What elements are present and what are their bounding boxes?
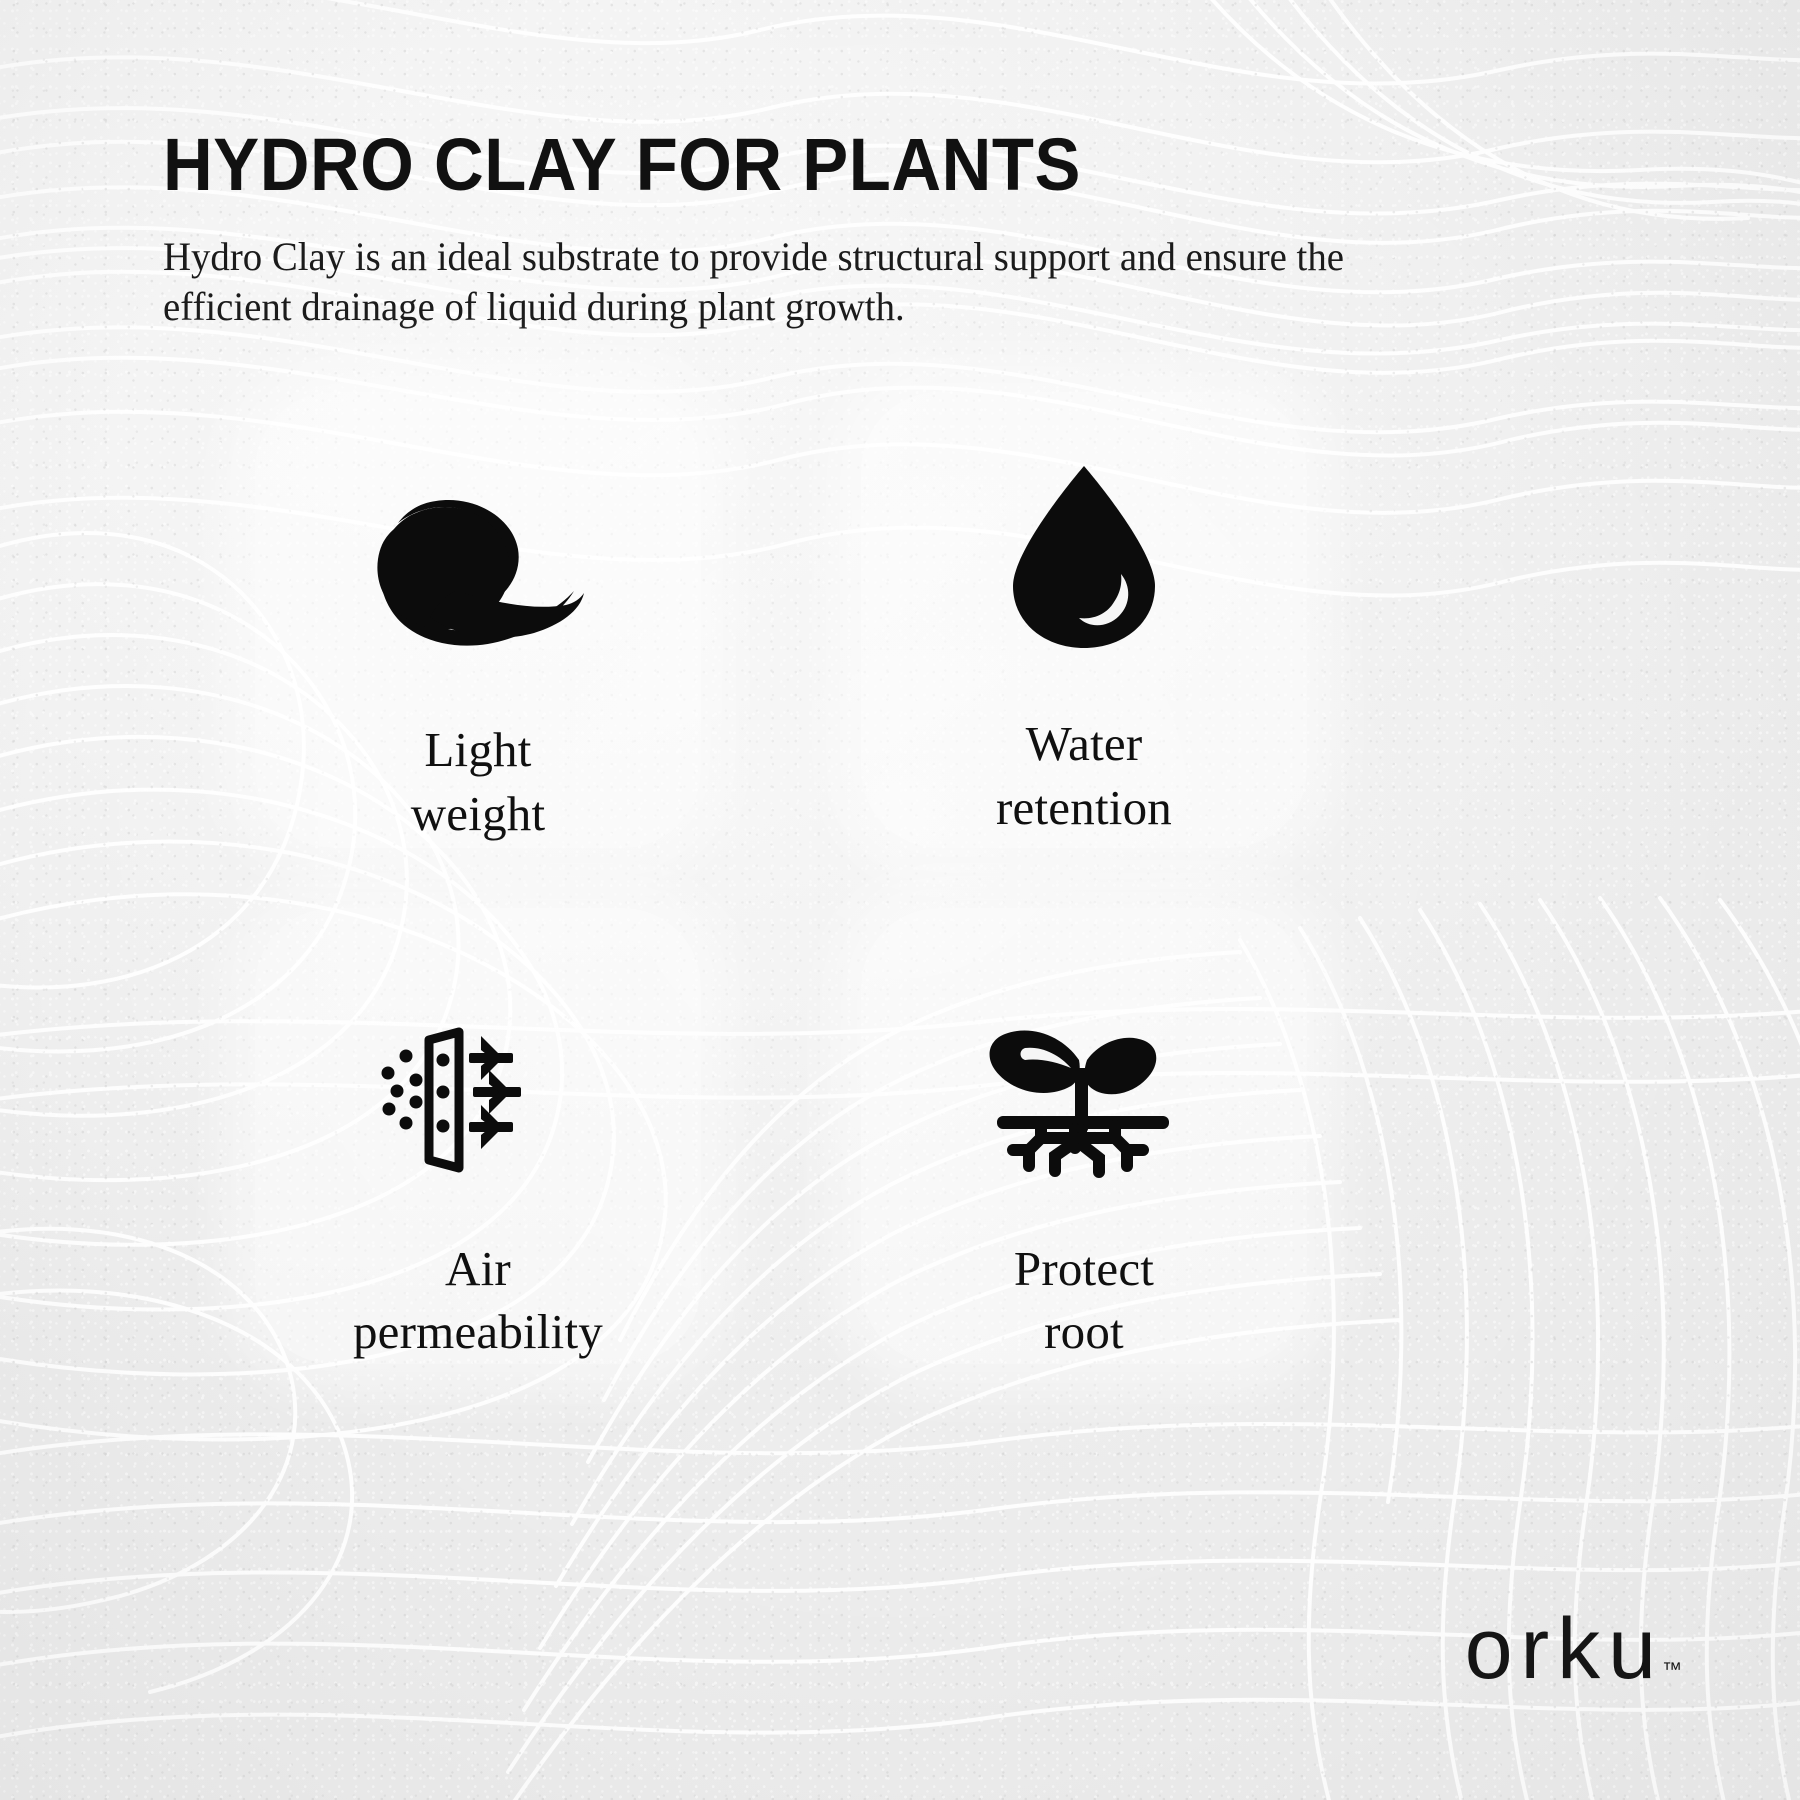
infographic-poster: HYDRO CLAY FOR PLANTS Hydro Clay is an i… bbox=[0, 0, 1800, 1800]
feature-label-protect-root: Protect root bbox=[1014, 1237, 1154, 1364]
feather-icon bbox=[368, 454, 588, 704]
feature-label-line1: Water bbox=[1026, 716, 1143, 771]
page-subtitle: Hydro Clay is an ideal substrate to prov… bbox=[163, 232, 1414, 333]
feature-label-light-weight: Light weight bbox=[411, 718, 546, 845]
feature-card-grid: Light weight Water retention bbox=[255, 392, 1555, 1364]
trademark-symbol: ™ bbox=[1662, 1659, 1682, 1682]
feature-card-water-retention[interactable]: Water retention bbox=[861, 392, 1307, 848]
feature-card-air-permeability[interactable]: Air permeability bbox=[255, 908, 701, 1364]
feature-label-line1: Protect bbox=[1014, 1241, 1154, 1296]
feature-label-line2: retention bbox=[996, 780, 1172, 835]
feature-label-line1: Air bbox=[445, 1241, 511, 1296]
feature-label-line1: Light bbox=[424, 722, 531, 777]
water-drop-icon bbox=[1009, 432, 1159, 682]
air-permeability-icon bbox=[373, 982, 583, 1219]
plant-root-icon bbox=[987, 984, 1182, 1219]
brand-logo: orku ™ bbox=[1465, 1611, 1682, 1688]
feature-label-water-retention: Water retention bbox=[996, 712, 1172, 839]
feature-label-line2: weight bbox=[411, 786, 546, 841]
page-title: HYDRO CLAY FOR PLANTS bbox=[163, 128, 1484, 202]
feature-card-protect-root[interactable]: Protect root bbox=[861, 908, 1307, 1364]
feature-label-air-permeability: Air permeability bbox=[353, 1237, 603, 1364]
brand-logo-wordmark: orku bbox=[1465, 1611, 1664, 1688]
header: HYDRO CLAY FOR PLANTS Hydro Clay is an i… bbox=[163, 128, 1583, 333]
feature-label-line2: permeability bbox=[353, 1304, 603, 1359]
feature-label-line2: root bbox=[1044, 1304, 1124, 1359]
feature-card-light-weight[interactable]: Light weight bbox=[255, 392, 701, 848]
